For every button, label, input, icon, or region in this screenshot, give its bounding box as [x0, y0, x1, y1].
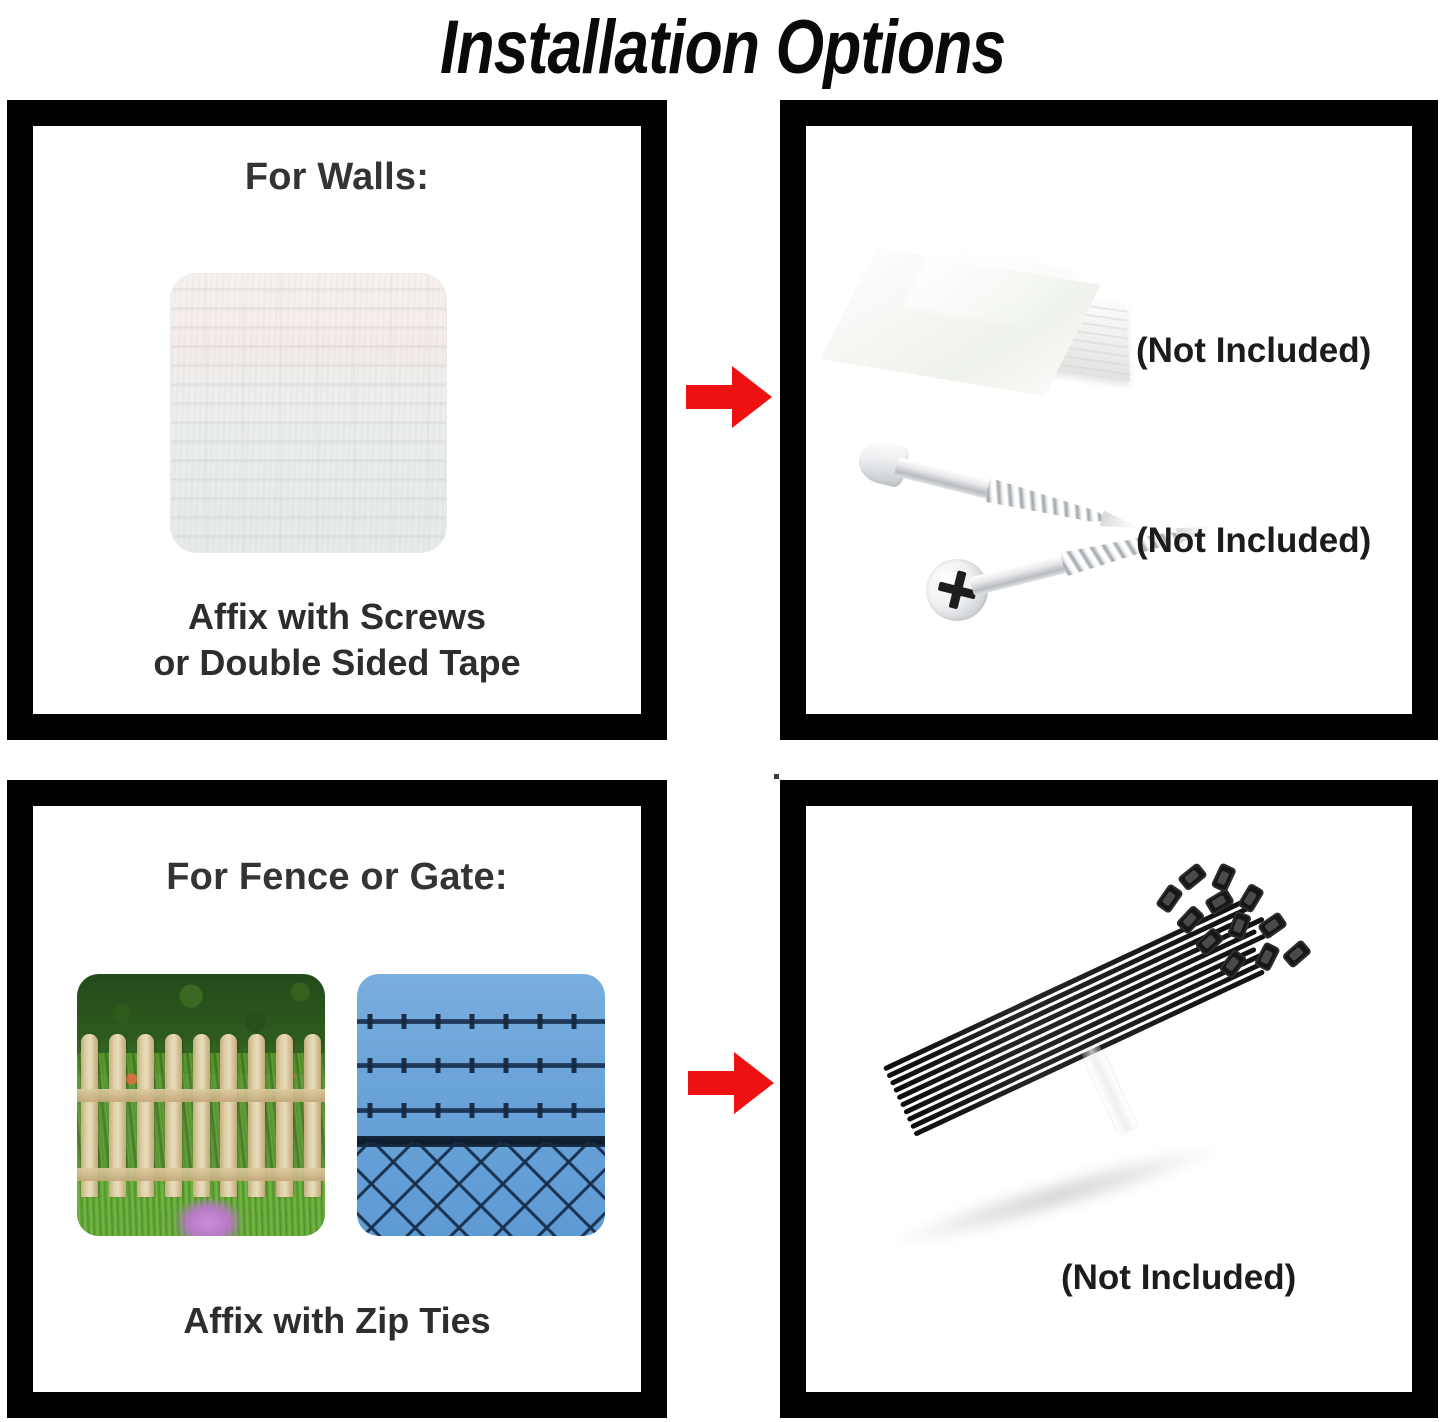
ziptie-heads [1150, 846, 1328, 1046]
fence-rail-bottom [77, 1168, 325, 1181]
for-fence-caption: Affix with Zip Ties [33, 1298, 641, 1344]
ziptie-strands [882, 896, 1283, 1147]
barbed-wire-strand [357, 1108, 605, 1113]
barbed-wire-strand [357, 1019, 605, 1024]
panel-for-fence-content: For Fence or Gate: [33, 806, 641, 1392]
panel-for-fence-or-gate: For Fence or Gate: [7, 780, 667, 1418]
title-bar: Installation Options [0, 0, 1445, 96]
panel-for-walls-content: For Walls: Affix with Screws or Double S… [33, 126, 641, 714]
panel-wall-hardware: (Not Included) (Not Included) [780, 100, 1438, 740]
white-brick-wall-swatch-image [171, 274, 446, 552]
garden-path [176, 1199, 240, 1236]
ziptie-shadow [888, 1133, 1224, 1259]
for-walls-caption-line-1: Affix with Screws [33, 594, 641, 640]
for-walls-heading: For Walls: [33, 156, 641, 199]
chain-link-fence-image [357, 974, 605, 1236]
for-walls-caption: Affix with Screws or Double Sided Tape [33, 594, 641, 686]
wall-grain-texture [171, 274, 446, 552]
ziptie-not-included-label: (Not Included) [1061, 1258, 1296, 1298]
for-fence-heading: For Fence or Gate: [33, 856, 641, 899]
red-right-arrow-icon-bottom [688, 1052, 774, 1114]
barbed-wire-strand [357, 1063, 605, 1068]
image-speck-artifact [774, 774, 779, 779]
screws-not-included-label: (Not Included) [1136, 521, 1371, 561]
panel-wall-hardware-content: (Not Included) (Not Included) [806, 126, 1412, 714]
page-title: Installation Options [440, 10, 1005, 86]
black-zip-tie-bundle-image [866, 911, 1366, 1311]
chain-link-mesh [357, 1142, 605, 1236]
fence-rail-top [77, 1089, 325, 1102]
tape-not-included-label: (Not Included) [1136, 331, 1371, 371]
panel-for-walls: For Walls: Affix with Screws or Double S… [7, 100, 667, 740]
red-right-arrow-icon-top [686, 366, 772, 428]
double-sided-tape-stack-image [877, 234, 1145, 412]
panel-fence-hardware: (Not Included) [780, 780, 1438, 1418]
wooden-picket-fence-image [77, 974, 325, 1236]
panel-fence-hardware-content: (Not Included) [806, 806, 1412, 1392]
for-walls-caption-line-2: or Double Sided Tape [33, 640, 641, 686]
